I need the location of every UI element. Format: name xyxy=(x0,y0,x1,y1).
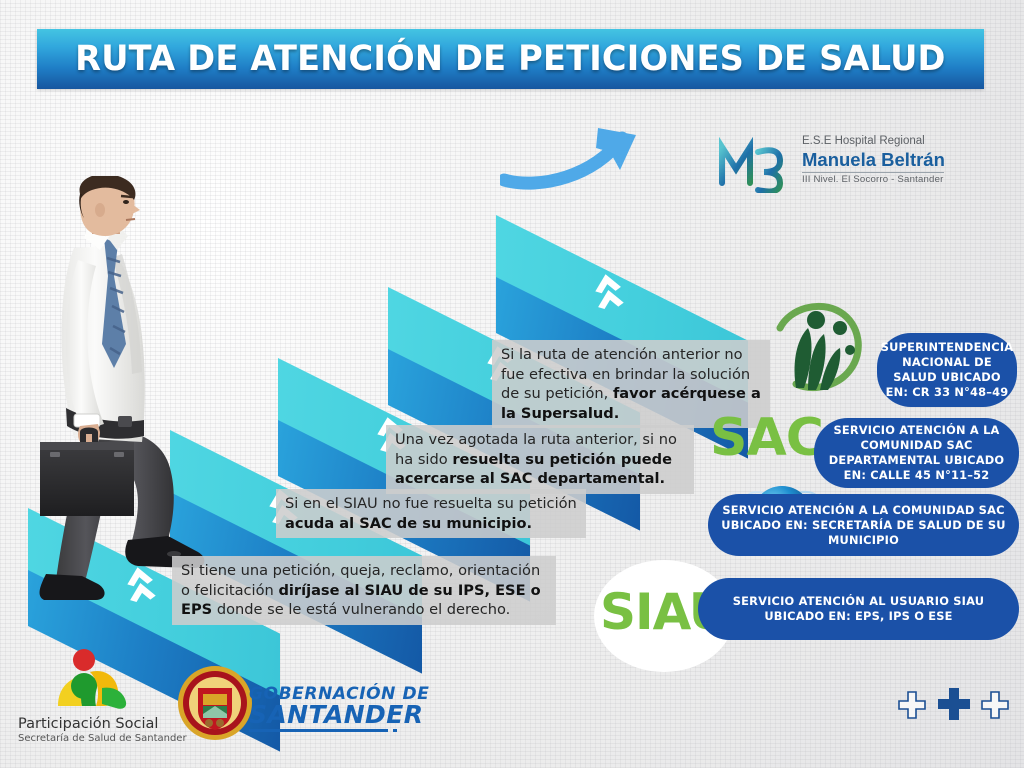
participacion-social-line2: Secretaría de Salud de Santander xyxy=(18,733,187,744)
santander-crest-logo xyxy=(176,664,254,742)
cross-outline-left-icon xyxy=(897,690,927,720)
badge-supersalud[interactable]: SUPERINTENDENCIA NACIONAL DE SALUD UBICA… xyxy=(877,333,1017,407)
hospital-logo-line2: Manuela Beltrán xyxy=(802,149,945,171)
double-chevron-up-icon xyxy=(594,272,624,316)
participacion-social-line1: Participación Social xyxy=(18,716,158,732)
gobernacion-underline-2 xyxy=(393,729,397,732)
participacion-social-logo xyxy=(38,648,158,718)
page-title: RUTA DE ATENCIÓN DE PETICIONES DE SALUD xyxy=(75,39,945,79)
hospital-logo-line1: E.S.E Hospital Regional xyxy=(802,135,925,147)
curved-arrow-icon xyxy=(500,118,690,193)
callout-sac-departamental: Una vez agotada la ruta anterior, si no … xyxy=(386,425,694,494)
gobernacion-underline xyxy=(249,729,388,732)
badge-sac-municipal[interactable]: SERVICIO ATENCIÓN A LA COMUNIDAD SAC UBI… xyxy=(708,494,1019,556)
cross-outline-right-icon xyxy=(980,690,1010,720)
callout-sac-municipio: Si en el SIAU no fue resuelta su petició… xyxy=(276,489,586,538)
page-title-banner: RUTA DE ATENCIÓN DE PETICIONES DE SALUD xyxy=(37,29,984,89)
step-5 xyxy=(496,215,748,343)
infographic-canvas: RUTA DE ATENCIÓN DE PETICIONES DE SALUD … xyxy=(0,0,1024,768)
hospital-logo-divider xyxy=(802,172,944,173)
hospital-logo-line3: III Nivel. El Socorro - Santander xyxy=(802,174,944,185)
gobernacion-line2: SANTANDER xyxy=(249,700,423,729)
supersalud-leaf-logo xyxy=(766,302,868,400)
badge-siau[interactable]: SERVICIO ATENCIÓN AL USUARIO SIAU UBICAD… xyxy=(698,578,1019,640)
sac-wordmark: SAC xyxy=(710,408,823,468)
callout-siau: Si tiene una petición, queja, reclamo, o… xyxy=(172,556,556,625)
cross-filled-center-icon xyxy=(936,686,972,722)
hospital-logo: E.S.E Hospital Regional Manuela Beltrán … xyxy=(696,133,946,195)
badge-sac-departamental[interactable]: SERVICIO ATENCIÓN A LA COMUNIDAD SAC DEP… xyxy=(814,418,1019,488)
